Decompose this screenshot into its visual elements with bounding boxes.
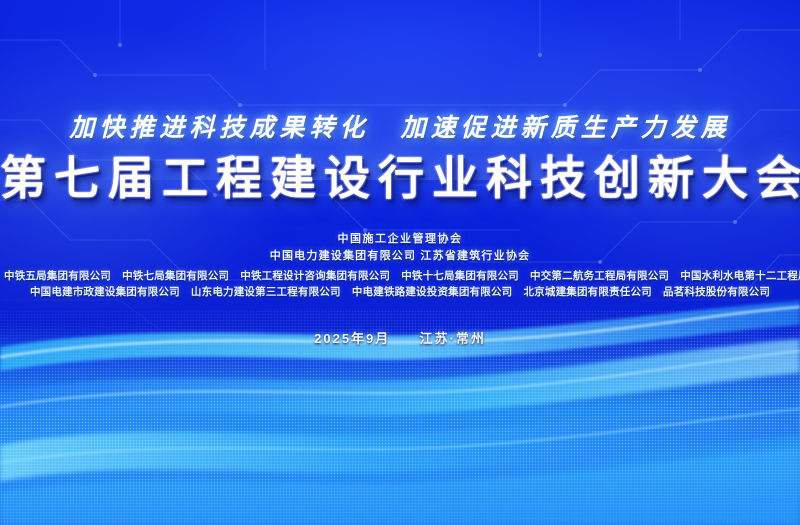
sponsor-item: 中电建铁路建设投资集团有限公司 xyxy=(348,286,517,298)
sponsor-item: 山东电力建设第三工程有限公司 xyxy=(187,286,345,298)
organizer-block: 中国施工企业管理协会 中国电力建设集团有限公司 江苏省建筑行业协会 xyxy=(0,231,800,265)
sponsor-item: 品茗科技股份有限公司 xyxy=(659,286,774,298)
sponsor-item: 中铁五局集团有限公司 xyxy=(0,270,115,282)
event-date: 2025年9月 xyxy=(314,331,390,346)
sponsor-block: 中铁五局集团有限公司 中铁七局集团有限公司 中铁工程设计咨询集团有限公司 中铁十… xyxy=(0,268,800,300)
tagline-right: 加速促进新质生产力发展 xyxy=(401,115,731,142)
sponsor-item: 中交第二航务工程局有限公司 xyxy=(526,270,673,282)
sponsor-line-2: 中国电建市政建设集团有限公司 山东电力建设第三工程有限公司 中电建铁路建设投资集… xyxy=(0,284,800,300)
sponsor-item: 中国电建市政建设集团有限公司 xyxy=(26,286,184,298)
date-location-bar: 2025年9月 江苏·常州 xyxy=(0,328,800,347)
sponsor-item: 中铁七局集团有限公司 xyxy=(118,270,233,282)
poster-text-content: 加快推进科技成果转化 加速促进新质生产力发展 第七届工程建设行业科技创新大会 中… xyxy=(0,0,800,525)
sponsor-item: 中铁工程设计咨询集团有限公司 xyxy=(236,270,394,282)
sponsor-item: 中国水利水电第十二工程局有限公司 xyxy=(676,270,800,282)
tagline: 加快推进科技成果转化 加速促进新质生产力发展 xyxy=(0,108,800,144)
sponsor-item: 北京城建集团有限责任公司 xyxy=(519,286,655,298)
organizer-line-2: 中国电力建设集团有限公司 江苏省建筑行业协会 xyxy=(0,247,800,265)
organizer-line-1: 中国施工企业管理协会 xyxy=(0,231,800,247)
conference-poster: 加快推进科技成果转化 加速促进新质生产力发展 第七届工程建设行业科技创新大会 中… xyxy=(0,0,800,525)
event-location: 江苏·常州 xyxy=(420,331,486,346)
tagline-left: 加快推进科技成果转化 xyxy=(69,115,369,142)
main-title: 第七届工程建设行业科技创新大会 xyxy=(0,142,800,208)
sponsor-line-1: 中铁五局集团有限公司 中铁七局集团有限公司 中铁工程设计咨询集团有限公司 中铁十… xyxy=(0,268,800,284)
sponsor-item: 中铁十七局集团有限公司 xyxy=(397,270,523,282)
